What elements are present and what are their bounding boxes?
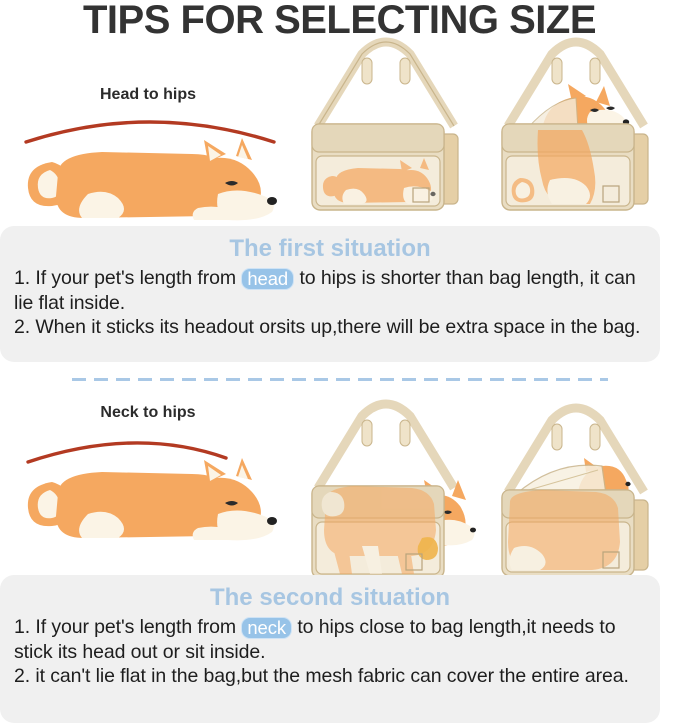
panel-line-1: 1. If your pet's length from head to hip…: [14, 266, 646, 315]
dog-lying-neck-to-hips: [22, 452, 284, 548]
measure-block-head-to-hips: Head to hips: [8, 28, 288, 228]
line-1-before: 1. If your pet's length from: [14, 616, 241, 638]
line-1-before: 1. If your pet's length from: [14, 267, 241, 289]
measure-label-neck-to-hips: Neck to hips: [8, 404, 288, 422]
section-divider: [72, 378, 608, 381]
bag-dog-head-out: [486, 30, 666, 228]
panel-line-2: 2. it can't lie flat in the bag,but the …: [14, 664, 646, 689]
illustration-row-first: Head to hips: [0, 28, 679, 228]
panel-line-1: 1. If your pet's length from neck to hip…: [14, 615, 646, 664]
panel-heading-second: The second situation: [14, 581, 646, 615]
panel-body-first: 1. If your pet's length from head to hip…: [14, 266, 646, 340]
illustration-row-second: Neck to hips: [0, 388, 679, 588]
keyword-badge-neck: neck: [241, 617, 292, 639]
panel-heading-first: The first situation: [14, 232, 646, 266]
info-panel-first-situation: The first situation 1. If your pet's len…: [0, 226, 660, 362]
measure-label-head-to-hips: Head to hips: [8, 86, 288, 104]
bag-dog-mesh-cover: [486, 396, 666, 594]
panel-line-2: 2. When it sticks its headout orsits up,…: [14, 315, 646, 340]
bag-dog-lying-flat: [296, 30, 476, 228]
bag-dog-head-out-side: [296, 396, 476, 594]
keyword-badge-head: head: [241, 268, 294, 290]
info-panel-second-situation: The second situation 1. If your pet's le…: [0, 575, 660, 723]
panel-body-second: 1. If your pet's length from neck to hip…: [14, 615, 646, 689]
measure-block-neck-to-hips: Neck to hips: [8, 388, 288, 588]
dog-lying-head-to-hips: [22, 132, 284, 228]
